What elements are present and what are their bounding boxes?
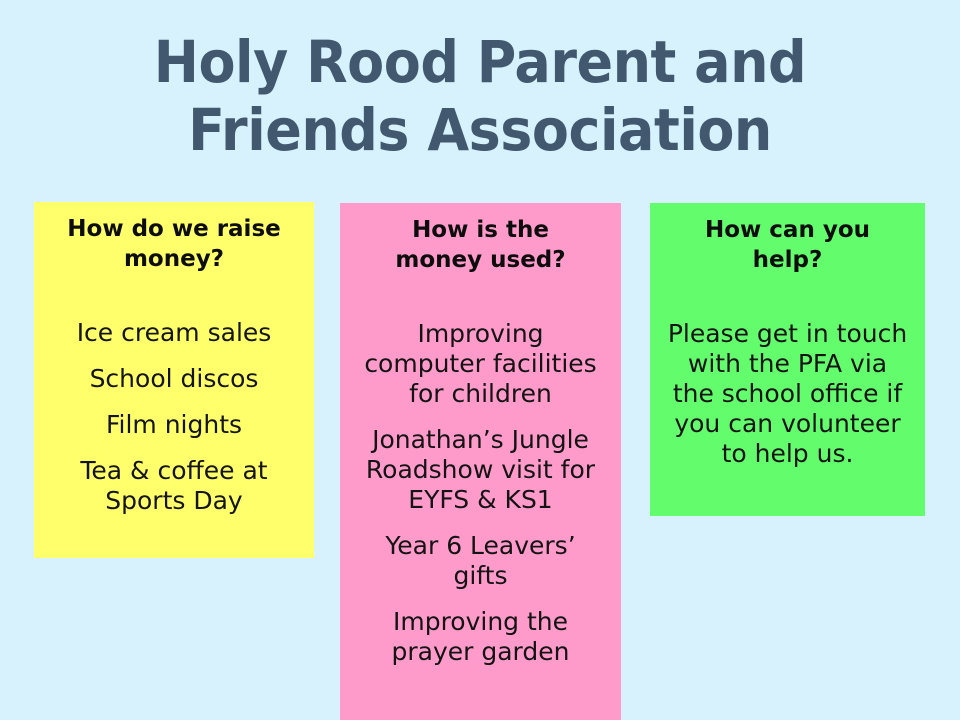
list-item: Year 6 Leavers’ gifts bbox=[346, 531, 615, 591]
panel-how-can-you-help: How can you help? Please get in touch wi… bbox=[650, 203, 925, 516]
list-item: Improving the prayer garden bbox=[346, 607, 615, 667]
list-item: Jonathan’s Jungle Roadshow visit for EYF… bbox=[346, 425, 615, 515]
list-item: Tea & coffee at Sports Day bbox=[40, 456, 308, 516]
panel-raise-heading: How do we raise money? bbox=[40, 214, 308, 274]
panel-used-heading: How is the money used? bbox=[346, 215, 615, 275]
slide-canvas: Holy Rood Parent and Friends Association… bbox=[0, 0, 960, 720]
panel-raise-body: Ice cream sales School discos Film night… bbox=[40, 318, 308, 516]
list-item: School discos bbox=[40, 364, 308, 394]
list-item: Film nights bbox=[40, 410, 308, 440]
panel-used-body: Improving computer facilities for childr… bbox=[346, 319, 615, 667]
list-item: Improving computer facilities for childr… bbox=[346, 319, 615, 409]
page-title: Holy Rood Parent and Friends Association bbox=[34, 28, 927, 164]
panel-how-do-we-raise-money: How do we raise money? Ice cream sales S… bbox=[34, 202, 314, 558]
panel-how-is-the-money-used: How is the money used? Improving compute… bbox=[340, 203, 621, 720]
list-item: Ice cream sales bbox=[40, 318, 308, 348]
panel-help-body: Please get in touch with the PFA via the… bbox=[656, 319, 919, 469]
panel-help-heading: How can you help? bbox=[656, 215, 919, 275]
list-item: Please get in touch with the PFA via the… bbox=[660, 319, 915, 469]
